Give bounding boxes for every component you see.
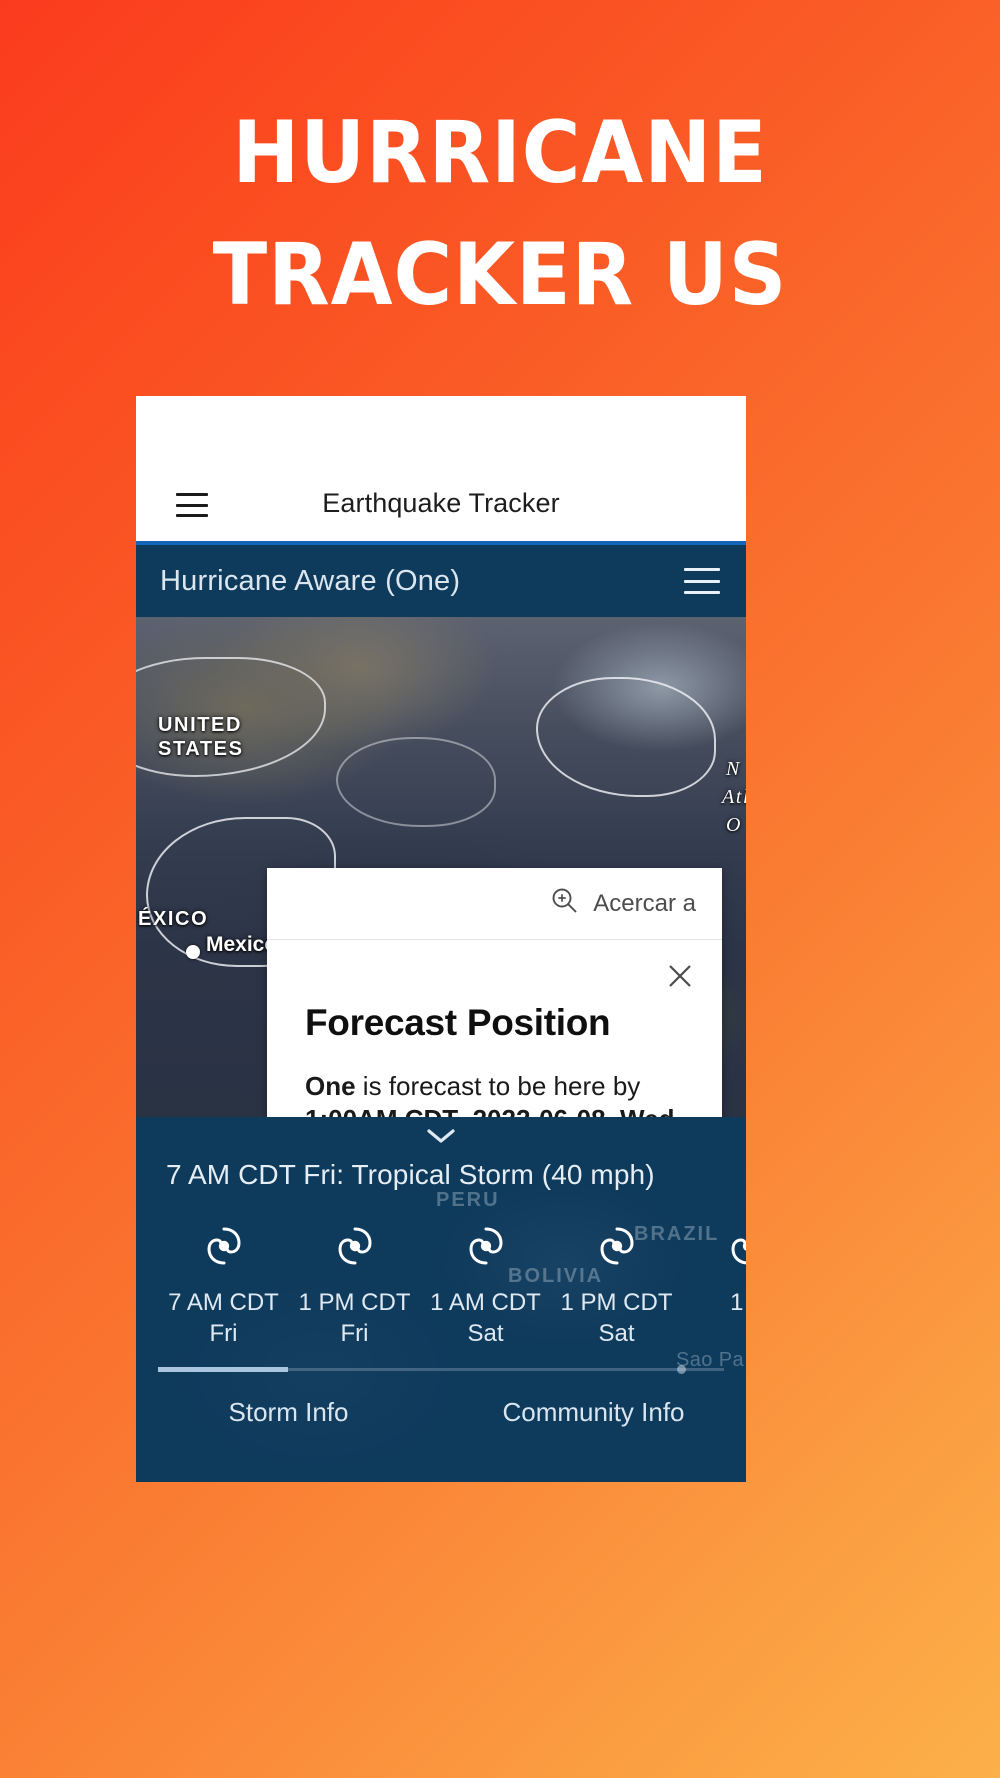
ghost-region-label: PERU [436, 1189, 500, 1212]
forecast-step-day: Fri [158, 1318, 289, 1350]
forecast-step-time: 1 PM CDT [289, 1288, 420, 1318]
app-bar-title: Earthquake Tracker [136, 488, 746, 519]
timeline-marker-dot [677, 1365, 686, 1374]
scrollbar-thumb[interactable] [158, 1367, 288, 1372]
page-title: HURRICANE TRACKER US [35, 92, 965, 336]
popup-storm-name: One [305, 1071, 356, 1101]
hurricane-icon [158, 1221, 289, 1276]
popup-action-row[interactable]: Acercar a [267, 868, 722, 940]
chevron-down-icon [424, 1125, 458, 1147]
forecast-step-time: 7 AM CDT [158, 1288, 289, 1318]
forecast-step-day: Sat [420, 1318, 551, 1350]
promo-background: HURRICANE TRACKER US Earthquake Tracker … [0, 0, 1000, 1778]
city-marker [186, 945, 200, 959]
panel-tabs[interactable]: Storm Info Community Info [136, 1393, 746, 1438]
hamburger-icon[interactable] [684, 568, 720, 594]
forecast-step[interactable]: 1 A [682, 1221, 746, 1350]
map-canvas[interactable]: UNITED STATES ÉXICO N Atl O Caribbean Se… [136, 617, 746, 1117]
map-ocean-label: O [726, 813, 742, 837]
forecast-step-time: 1 A [682, 1288, 746, 1318]
headline-line-1: HURRICANE [35, 92, 965, 214]
storm-title-bar: Hurricane Aware (One) [136, 541, 746, 617]
tab-storm-info[interactable]: Storm Info [136, 1393, 441, 1438]
popup-text-comma: , [458, 1104, 472, 1117]
timeline-scrollbar[interactable] [158, 1368, 724, 1371]
popup-forecast-time: 1:00AM CDT [305, 1104, 458, 1117]
storm-title: Hurricane Aware (One) [160, 565, 460, 598]
zoom-in-icon[interactable] [550, 886, 580, 921]
popup-forecast-date: 2022-06-08, Wed [473, 1104, 675, 1117]
map-ocean-label: Atl [722, 785, 746, 809]
panel-drag-handle[interactable] [136, 1117, 746, 1159]
map-region-label: STATES [158, 737, 244, 761]
forecast-step-day: Sat [551, 1318, 682, 1350]
tab-community-info[interactable]: Community Info [441, 1393, 746, 1438]
map-region-label: ÉXICO [138, 907, 208, 931]
zoom-to-label[interactable]: Acercar a [593, 890, 696, 918]
popup-body: Forecast Position One is forecast to be … [267, 940, 722, 1117]
forecast-step[interactable]: 1 AM CDT Sat [420, 1221, 551, 1350]
map-ocean-label: N [726, 757, 741, 781]
popup-title: Forecast Position [305, 1002, 684, 1044]
forecast-step-time: 1 PM CDT [551, 1288, 682, 1318]
app-screenshot: Earthquake Tracker Hurricane Aware (One)… [136, 396, 746, 1482]
close-icon[interactable] [662, 958, 698, 994]
map-popup[interactable]: Acercar a Forecast Position One is forec… [267, 868, 722, 1117]
popup-text-mid: is forecast to be here by [356, 1071, 641, 1101]
forecast-step-time: 1 AM CDT [420, 1288, 551, 1318]
app-bar: Earthquake Tracker [136, 396, 746, 541]
headline-line-2: TRACKER US [35, 214, 965, 336]
forecast-timeline[interactable]: 7 AM CDT Fri 1 PM CDT Fri [136, 1221, 746, 1350]
hurricane-icon [551, 1221, 682, 1276]
popup-description: One is forecast to be here by 1:00AM CDT… [305, 1070, 684, 1117]
forecast-step-day: Fri [289, 1318, 420, 1350]
forecast-step[interactable]: 1 PM CDT Fri [289, 1221, 420, 1350]
popup-text-period: . [674, 1104, 681, 1117]
storm-status-text: 7 AM CDT Fri: Tropical Storm (40 mph) [136, 1159, 746, 1191]
hurricane-icon [289, 1221, 420, 1276]
hurricane-icon [682, 1221, 746, 1276]
forecast-step[interactable]: 1 PM CDT Sat [551, 1221, 682, 1350]
hamburger-icon[interactable] [176, 493, 208, 517]
storm-info-panel: PERU BOLIVIA BRAZIL Sao Pa 7 AM CDT Fri:… [136, 1117, 746, 1482]
hurricane-icon [420, 1221, 551, 1276]
forecast-step[interactable]: 7 AM CDT Fri [158, 1221, 289, 1350]
map-region-label: UNITED [158, 713, 242, 737]
